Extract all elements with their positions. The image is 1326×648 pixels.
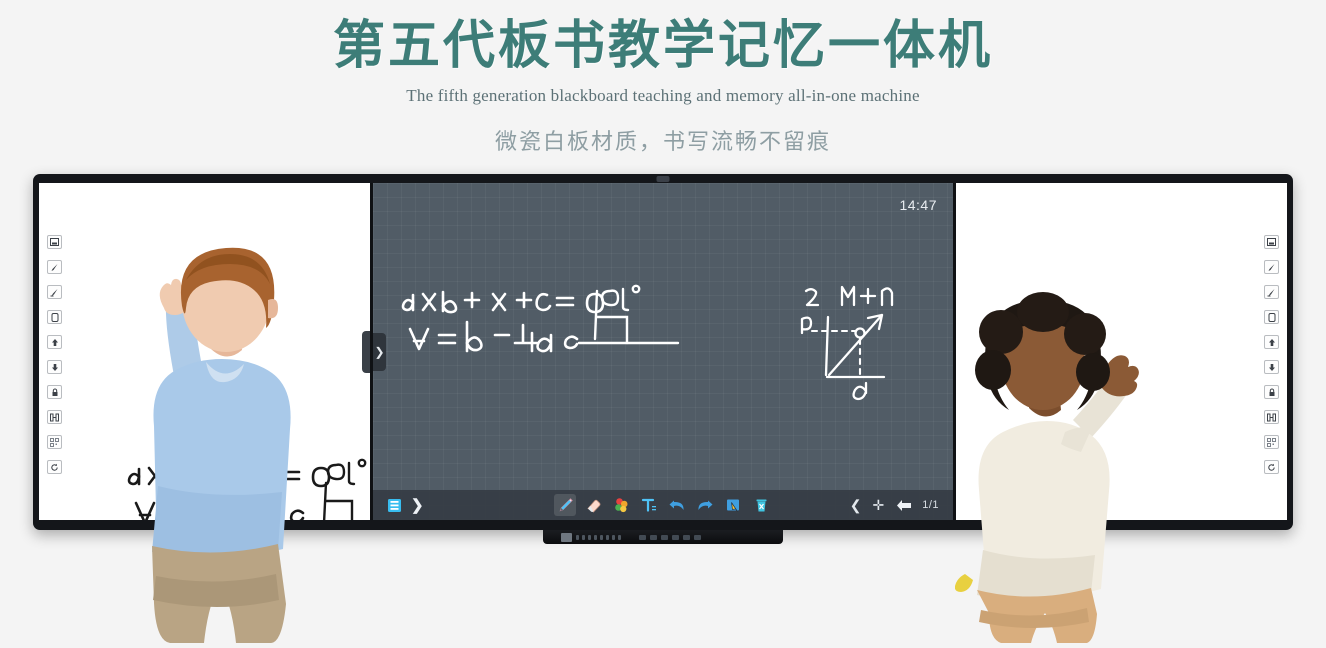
right-angle-diagram-blackboard [573,291,683,363]
device-stand-control-panel [543,530,783,544]
arrow-back-icon[interactable] [893,494,915,516]
toolbar-left-group: ❯ [373,494,543,516]
plus-icon[interactable]: ✛ [870,497,886,514]
page-header: 第五代板书教学记忆一体机 The fifth generation blackb… [0,0,1326,156]
rail-button-refresh[interactable] [1264,460,1279,474]
rail-button-lock[interactable] [1264,385,1279,399]
stand-indicator-dots [576,535,621,540]
stand-hardware-buttons[interactable] [639,535,701,540]
chevron-left-icon[interactable]: ❮ [848,497,864,514]
person-writing-right [955,290,1140,643]
text-tool-icon[interactable] [638,494,660,516]
person-writing-left [120,236,370,643]
pen-tool-icon[interactable] [554,494,576,516]
page-subtitle-english: The fifth generation blackboard teaching… [0,86,1326,106]
rail-button-qr-code[interactable] [47,435,62,449]
rail-button-marker[interactable] [1264,285,1279,299]
rail-button-arrow-down[interactable] [1264,360,1279,374]
rail-button-arrow-up[interactable] [47,335,62,349]
toolbar-tools-group [543,494,783,516]
redo-icon[interactable] [694,494,716,516]
chevron-right-icon: ❯ [374,345,384,359]
interactive-blackboard[interactable]: ❯ 14:47 [373,183,953,520]
rail-button-minimize-window[interactable] [1264,235,1279,249]
brand-logo-icon [561,533,572,542]
rail-button-lock[interactable] [47,385,62,399]
blackboard-toolbar: ❯ [373,490,953,520]
list-menu-icon[interactable] [383,494,405,516]
handwriting-blackboard-equations [405,281,650,363]
rail-button-page[interactable] [1264,310,1279,324]
rail-button-page[interactable] [47,310,62,324]
panel-expand-handle[interactable]: ❯ [373,333,386,371]
select-tool-icon[interactable] [722,494,744,516]
page-title: 第五代板书教学记忆一体机 [0,18,1326,76]
undo-icon[interactable] [666,494,688,516]
rail-button-refresh[interactable] [47,460,62,474]
page-indicator: 1/1 [922,499,939,511]
rail-button-pen[interactable] [47,260,62,274]
color-palette-icon[interactable] [610,494,632,516]
rail-button-marker[interactable] [47,285,62,299]
page-subtitle-chinese: 微瓷白板材质，书写流畅不留痕 [0,124,1326,156]
side-rail-left [47,235,62,474]
camera-icon [657,176,670,182]
rail-button-qr-code[interactable] [1264,435,1279,449]
eraser-tool-icon[interactable] [582,494,604,516]
rail-button-pen[interactable] [1264,260,1279,274]
vector-diagram-blackboard [798,283,908,395]
chevron-right-icon[interactable]: ❯ [407,496,428,514]
rail-button-arrow-up[interactable] [1264,335,1279,349]
rail-button-minimize-window[interactable] [47,235,62,249]
trash-icon[interactable] [750,494,772,516]
rail-button-arrow-down[interactable] [47,360,62,374]
rail-button-split-screen[interactable] [47,410,62,424]
side-rail-right [1264,235,1279,474]
rail-button-split-screen[interactable] [1264,410,1279,424]
clock-display: 14:47 [899,197,937,213]
toolbar-page-nav: ❮ ✛ 1/1 [783,494,953,516]
